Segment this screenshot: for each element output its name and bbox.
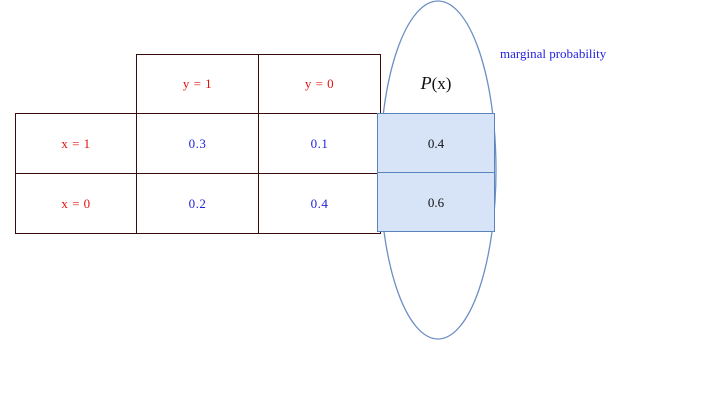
- table-row: x = 1 0.3 0.1: [16, 114, 381, 174]
- row-header-x0: x = 0: [16, 174, 137, 234]
- cell-x1-y0: 0.1: [259, 114, 381, 174]
- marginal-column-header: P(x): [377, 54, 495, 113]
- cell-x1-y1: 0.3: [137, 114, 259, 174]
- marginal-cell-x1: 0.4: [377, 113, 495, 172]
- marginal-cell-x0: 0.6: [377, 172, 495, 232]
- table-corner-cell: [16, 55, 137, 114]
- marginal-header-arg: (x): [432, 74, 452, 93]
- table-header-row: y = 1 y = 0: [16, 55, 381, 114]
- table-row: x = 0 0.2 0.4: [16, 174, 381, 234]
- column-header-y1: y = 1: [137, 55, 259, 114]
- cell-x0-y0: 0.4: [259, 174, 381, 234]
- marginal-probability-column: P(x) 0.4 0.6: [377, 54, 495, 232]
- column-header-y0: y = 0: [259, 55, 381, 114]
- cell-x0-y1: 0.2: [137, 174, 259, 234]
- marginal-probability-annotation: marginal probability: [500, 46, 606, 62]
- row-header-x1: x = 1: [16, 114, 137, 174]
- joint-probability-table: y = 1 y = 0 x = 1 0.3 0.1 x = 0 0.2 0.4: [15, 54, 381, 234]
- marginal-header-symbol: P: [421, 73, 432, 93]
- figure-canvas: y = 1 y = 0 x = 1 0.3 0.1 x = 0 0.2 0.4 …: [0, 0, 715, 403]
